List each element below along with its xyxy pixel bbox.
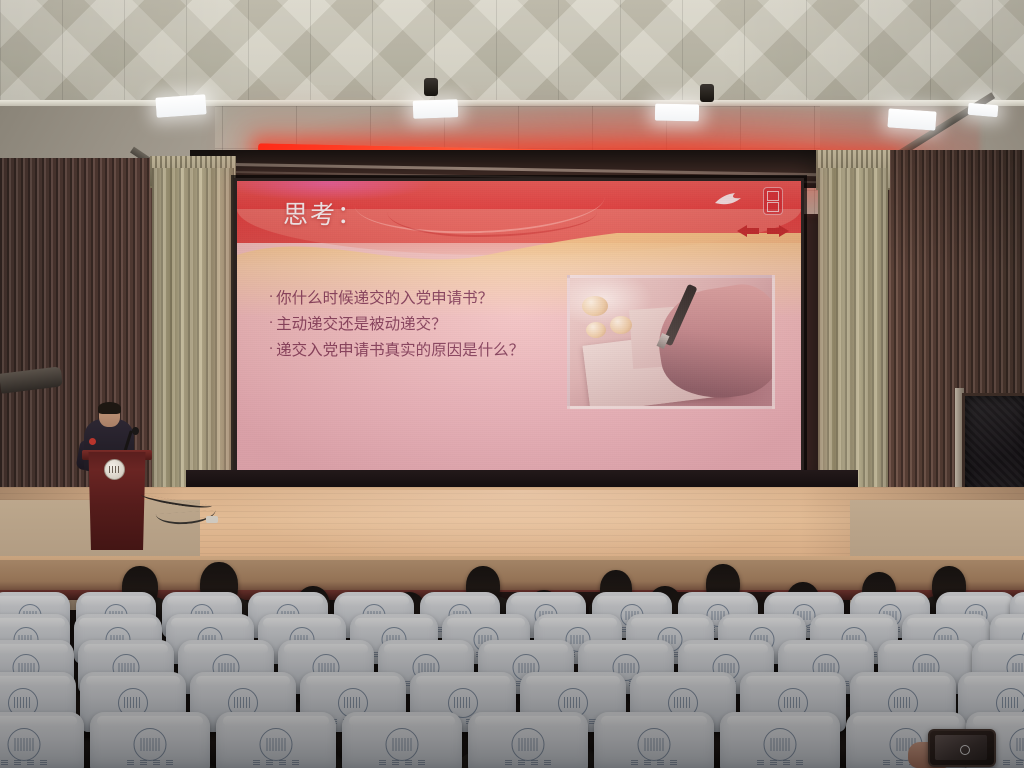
slide-bullet-item: ·递交入党申请书真实的原因是什么？ (269, 337, 569, 363)
seat-cover-motto (127, 760, 173, 765)
seat-cover-motto-word (531, 760, 538, 765)
floor-power-plug (206, 516, 218, 523)
upper-wall-shading (0, 0, 1024, 108)
audience-seat-cover (90, 712, 210, 768)
seat-cover-motto-word (153, 760, 160, 765)
seat-cover-motto (253, 760, 299, 765)
seat-cover-motto (1, 760, 47, 765)
ceiling-panel-light (413, 99, 459, 119)
seat-cover-motto-word (670, 760, 677, 765)
ceiling-speaker (424, 78, 438, 96)
slide-photo-writing-application (567, 275, 775, 409)
seat-cover-motto-word (253, 760, 260, 765)
photo-flower (586, 322, 606, 338)
slide-bullet-text: 你什么时候递交的入党申请书？ (276, 289, 493, 307)
slide-bullet-list: ·你什么时候递交的入党申请书？ ·主动递交还是被动递交？ ·递交入党申请书真实的… (269, 285, 569, 363)
seat-cover-motto-word (166, 760, 173, 765)
ceiling-speaker (700, 84, 714, 102)
seat-cover-motto-word (505, 760, 512, 765)
seat-cover-motto-word (418, 760, 425, 765)
slide-bullet-text: 主动递交还是被动递交？ (276, 315, 447, 333)
seat-cover-motto-word (279, 760, 286, 765)
phone-camera-screen (935, 735, 987, 760)
bullet-marker: · (269, 342, 273, 357)
seat-cover-motto-word (644, 760, 651, 765)
audience-seat-cover (342, 712, 462, 768)
audience-seat-cover (216, 712, 336, 768)
dove-icon (713, 191, 743, 207)
seat-cover-motto-word (27, 760, 34, 765)
seat-cover-motto-word (631, 760, 638, 765)
seat-cover-motto-word (783, 760, 790, 765)
speaker-party-badge (89, 438, 96, 445)
podium-school-emblem (104, 459, 125, 480)
seat-cover-motto-word (1016, 760, 1023, 765)
audience-phone-recording[interactable] (928, 729, 996, 767)
photo-flower (582, 296, 608, 316)
bullet-marker: · (269, 316, 273, 331)
audience-seat-cover (594, 712, 714, 768)
ceiling-panel-light (655, 104, 699, 122)
audience-seat-cover (0, 712, 84, 768)
seat-cover-emblem (8, 728, 41, 761)
seat-cover-motto-word (1, 760, 8, 765)
seat-cover-emblem (134, 728, 167, 761)
slide-bullet-text: 递交入党申请书真实的原因是什么？ (276, 341, 524, 359)
ceiling-panel-light (968, 103, 999, 118)
seat-cover-motto-word (770, 760, 777, 765)
curtain-left (152, 168, 234, 510)
seat-cover-emblem (1010, 728, 1024, 761)
seat-cover-motto-word (518, 760, 525, 765)
seat-cover-motto-word (657, 760, 664, 765)
bullet-marker: · (269, 290, 273, 305)
seat-cover-motto-word (757, 760, 764, 765)
seat-cover-motto-word (544, 760, 551, 765)
lecture-hall-photo: 思考： ·你什么时候递交的入党申请书？ ·主动递交还是被动递交？ ·递交入党申请… (0, 0, 1024, 768)
seat-cover-emblem (764, 728, 797, 761)
seat-cover-motto-word (292, 760, 299, 765)
seat-cover-motto-word (14, 760, 21, 765)
curtain-right (818, 168, 888, 508)
ceiling-panel-light (887, 108, 936, 130)
seat-cover-motto-word (266, 760, 273, 765)
seat-cover-motto-word (379, 760, 386, 765)
seat-cover-motto-word (127, 760, 134, 765)
seat-cover-motto-word (1003, 760, 1010, 765)
slide-nav-arrows[interactable] (735, 223, 791, 239)
seat-cover-motto-word (883, 760, 890, 765)
microphone-head (132, 427, 139, 435)
seat-cover-emblem (638, 728, 671, 761)
slide-bullet-item: ·主动递交还是被动递交？ (269, 311, 569, 337)
slide-bullet-item: ·你什么时候递交的入党申请书？ (269, 285, 569, 311)
party-seal-icon (763, 187, 783, 215)
seat-cover-emblem (386, 728, 419, 761)
seat-cover-motto (1003, 760, 1024, 765)
seat-cover-motto (631, 760, 677, 765)
seat-cover-motto (505, 760, 551, 765)
ceiling-panel-light (155, 94, 206, 117)
seat-cover-motto-word (405, 760, 412, 765)
seat-cover-motto-word (40, 760, 47, 765)
seat-cover-motto-word (796, 760, 803, 765)
seat-cover-motto-word (392, 760, 399, 765)
seat-cover-motto (757, 760, 803, 765)
audience-seat-cover (720, 712, 840, 768)
seat-cover-motto-word (896, 760, 903, 765)
projection-screen: 思考： ·你什么时候递交的入党申请书？ ·主动递交还是被动递交？ ·递交入党申请… (237, 181, 801, 475)
speaker-hair (98, 402, 121, 414)
seat-cover-emblem (260, 728, 293, 761)
seat-cover-motto-word (140, 760, 147, 765)
seat-cover-motto (379, 760, 425, 765)
slide-title: 思考： (283, 195, 364, 231)
seat-cover-emblem (512, 728, 545, 761)
audience-seat-cover (468, 712, 588, 768)
